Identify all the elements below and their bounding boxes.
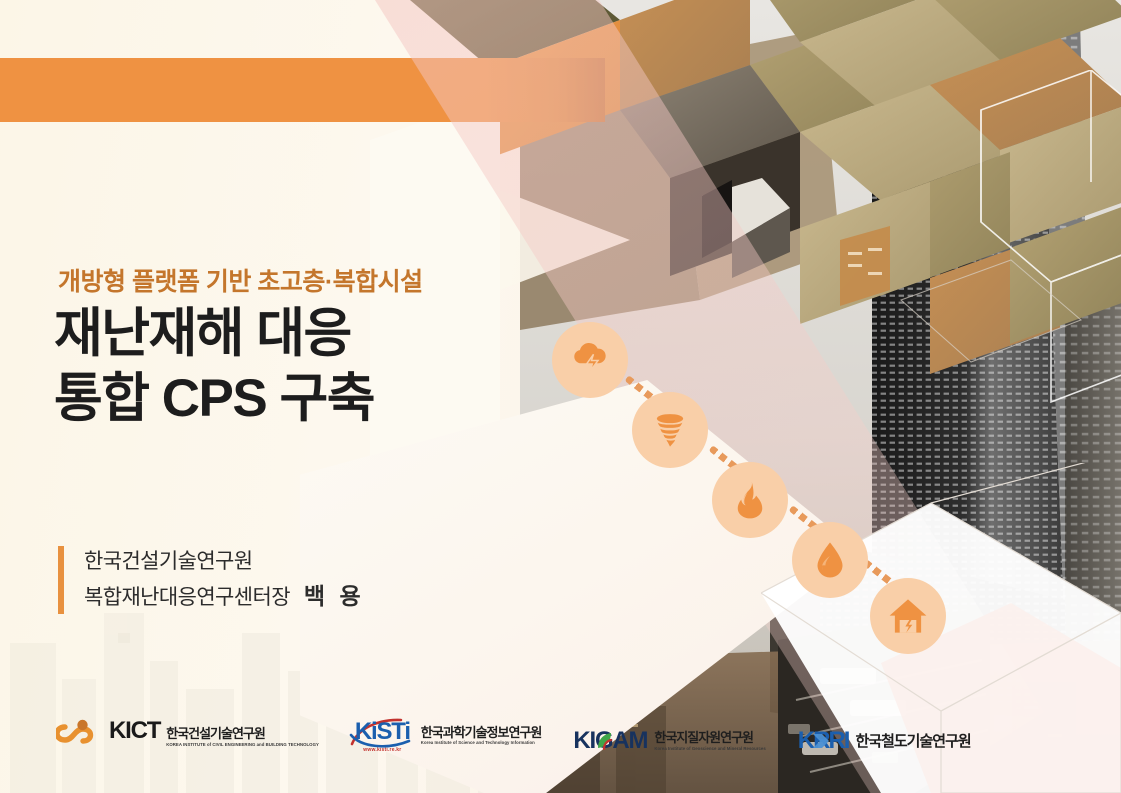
kisti-wordmark: KiSTi <box>351 718 414 746</box>
logo-kigam: KIGAM 한국지질자원연구원 Korea Institute of Geosc… <box>573 729 765 753</box>
presentation-slide: 개방형 플랫폼 기반 초고층·복합시설 재난재해 대응 통합 CPS 구축 한국… <box>0 0 1121 793</box>
disaster-icon-chain <box>540 310 960 630</box>
earthquake-house-icon <box>870 578 946 654</box>
presenter-role: 복합재난대응연구센터장 <box>84 586 290 609</box>
kict-korean-name: 한국건설기술연구원 <box>166 727 319 740</box>
kigam-korean-name: 한국지질자원연구원 <box>654 731 765 744</box>
water-drop-icon <box>792 522 868 598</box>
eyebrow-text: 개방형 플랫폼 기반 초고층·복합시설 <box>58 262 423 298</box>
fire-icon <box>712 462 788 538</box>
presenter-block: 한국건설기술연구원 복합재난대응연구센터장백 용 <box>58 546 365 614</box>
kigam-leaf-icon <box>595 731 613 751</box>
presenter-name: 백 용 <box>304 583 365 609</box>
tornado-icon <box>632 392 708 468</box>
krri-rail-icon <box>811 730 833 752</box>
krri-korean-name: 한국철도기술연구원 <box>855 734 970 749</box>
storm-icon <box>552 322 628 398</box>
organization-name: 한국건설기술연구원 <box>84 546 365 579</box>
partner-logo-row: KICT 한국건설기술연구원 KOREA INSTITUTE of CIVIL … <box>56 713 971 753</box>
headline-line-1: 재난재해 대응 <box>54 302 374 367</box>
kisti-korean-name: 한국과학기술정보연구원 <box>421 726 542 739</box>
headline-line-2: 통합 CPS 구축 <box>54 367 374 432</box>
logo-kict: KICT 한국건설기술연구원 KOREA INSTITUTE of CIVIL … <box>56 713 319 753</box>
kict-english-name: KOREA INSTITUTE of CIVIL ENGINEERING and… <box>166 743 319 747</box>
kict-wordmark: KICT <box>109 719 160 743</box>
kict-infinity-icon <box>56 713 102 753</box>
logo-krri: KRRI 한국철도기술연구원 <box>798 729 971 753</box>
kigam-english-name: Korea Institute of Geoscience and Minera… <box>654 747 765 751</box>
kisti-english-name: Korea Institute of Science and Technolog… <box>421 741 542 745</box>
logo-kisti: KiSTi www.kisti.re.kr 한국과학기술정보연구원 Korea … <box>351 718 541 753</box>
title-text-block: 개방형 플랫폼 기반 초고층·복합시설 재난재해 대응 통합 CPS 구축 한국… <box>0 0 520 793</box>
presenter-role-line: 복합재난대응연구센터장백 용 <box>84 579 365 615</box>
page-title: 재난재해 대응 통합 CPS 구축 <box>54 302 374 431</box>
